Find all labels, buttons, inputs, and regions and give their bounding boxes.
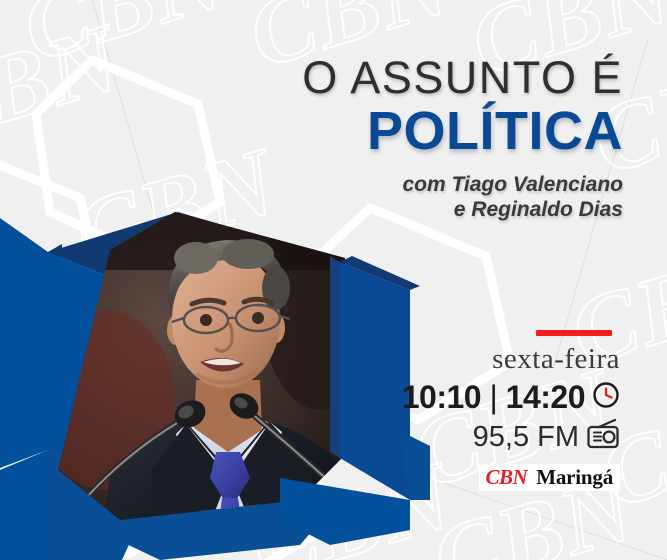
host-line-1: com Tiago Valenciano: [302, 172, 623, 197]
broadcast-day: sexta-feira: [402, 343, 620, 376]
cbn-network-name: CBN: [486, 466, 528, 488]
broadcast-times-row: 10:10 | 14:20: [402, 379, 620, 415]
blue-panel-right-front: [340, 262, 410, 500]
program-title-line2: POLÍTICA: [302, 102, 623, 160]
program-title-line1: O ASSUNTO É: [302, 52, 623, 104]
red-divider-bar: [536, 330, 612, 336]
broadcast-times: 10:10 | 14:20: [402, 379, 585, 415]
clock-icon: [592, 381, 620, 414]
host-line-2: e Reginaldo Dias: [302, 197, 623, 222]
blue-shape-left-back: [0, 218, 48, 468]
program-hosts: com Tiago Valenciano e Reginaldo Dias: [302, 172, 623, 222]
schedule-block: sexta-feira 10:10 | 14:20 95,5 FM: [402, 330, 620, 491]
cbn-city-name: Maringá: [536, 466, 613, 488]
radio-frequency: 95,5 FM: [473, 420, 579, 454]
time-second: 14:20: [506, 379, 585, 415]
time-first: 10:10: [402, 379, 481, 415]
radio-icon: [586, 418, 620, 455]
program-title-block: O ASSUNTO É POLÍTICA com Tiago Valencian…: [302, 52, 623, 222]
blue-panel-right-side: [330, 256, 340, 458]
time-separator: |: [489, 379, 497, 415]
radio-program-poster: CBN CBN CBN CBN CBN CBN CBN CBN CBN CBN …: [0, 0, 667, 560]
cbn-maringa-logo: CBN Maringá: [479, 464, 620, 491]
frequency-row: 95,5 FM: [402, 418, 620, 455]
